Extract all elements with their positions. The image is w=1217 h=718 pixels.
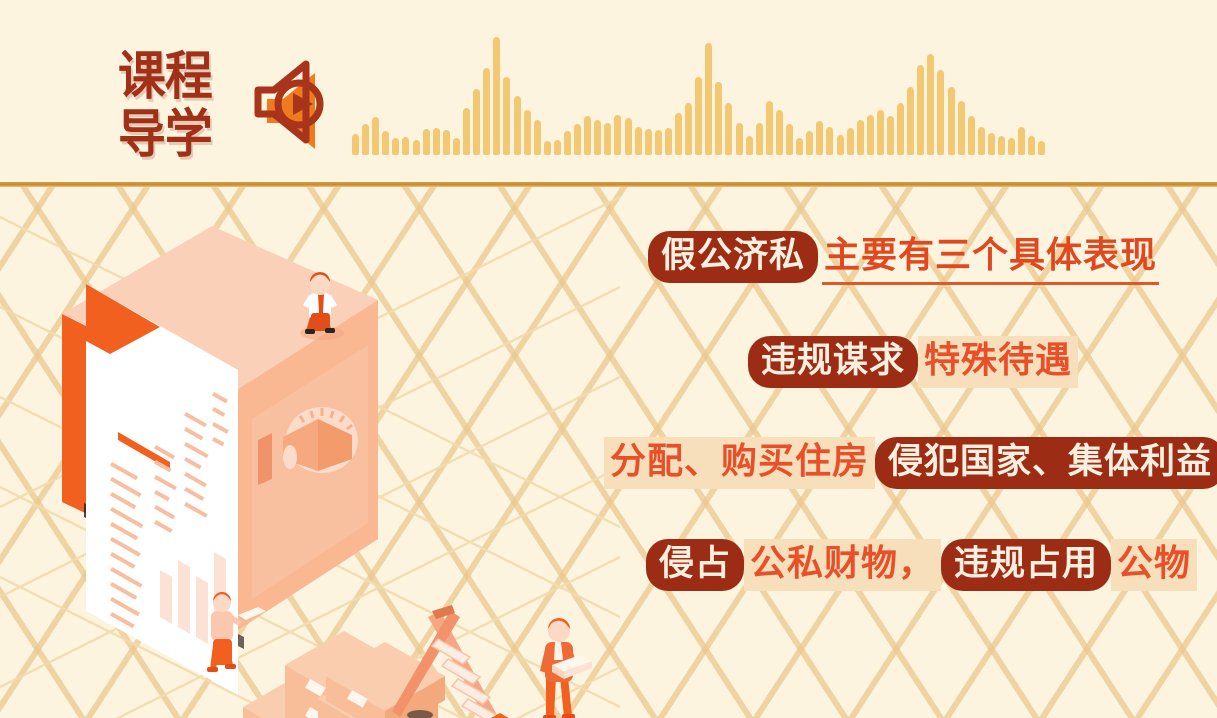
- waveform-bar: [473, 89, 480, 155]
- waveform-bar: [978, 127, 985, 155]
- waveform-bar: [564, 131, 571, 155]
- isometric-safe-vault-illustration: [0, 187, 620, 718]
- statement-3-body: 分配、购买住房: [604, 437, 875, 489]
- waveform-bar: [514, 96, 521, 155]
- waveform-bar: [524, 110, 531, 155]
- waveform-bar: [796, 138, 803, 155]
- waveform-bar: [665, 128, 672, 155]
- waveform-bar: [826, 127, 833, 155]
- waveform-bar: [867, 115, 874, 155]
- waveform-bar: [988, 133, 995, 155]
- waveform-bar: [554, 140, 561, 155]
- statement-line-3: 分配、购买住房 侵犯国家、集体利益: [604, 437, 1217, 489]
- statement-1-keyword: 假公济私: [648, 231, 818, 283]
- waveform-bar: [1028, 136, 1035, 155]
- waveform-bar: [594, 120, 601, 155]
- waveform-bar: [614, 115, 621, 155]
- waveform-bar: [907, 87, 914, 155]
- waveform-bar: [534, 120, 541, 155]
- waveform-bar: [917, 65, 924, 155]
- waveform-bar: [1038, 141, 1045, 155]
- waveform-bar: [423, 129, 430, 155]
- speaker-play-icon[interactable]: [250, 58, 342, 158]
- page-title: 课程 导学: [118, 48, 240, 166]
- statement-4-body-1: 公私财物，: [744, 539, 941, 591]
- waveform-bar: [806, 131, 813, 155]
- waveform-bar: [776, 110, 783, 155]
- waveform-bar: [998, 136, 1005, 155]
- waveform-bar: [1008, 138, 1015, 155]
- waveform-bar: [362, 124, 369, 155]
- statement-1-body: 主要有三个具体表现: [818, 231, 1161, 283]
- waveform-bar: [837, 135, 844, 155]
- waveform-bar: [443, 130, 450, 155]
- audio-waveform: [352, 30, 1142, 155]
- man-with-box: [540, 618, 592, 718]
- waveform-bar: [574, 124, 581, 155]
- waveform-bar: [493, 37, 500, 155]
- statement-line-4: 侵占 公私财物， 违规占用 公物: [646, 539, 1197, 591]
- waveform-bar: [725, 103, 732, 155]
- waveform-bar: [584, 116, 591, 155]
- statement-list: 假公济私 主要有三个具体表现 违规谋求 特殊待遇 分配、购买住房 侵犯国家、集体…: [590, 187, 1217, 718]
- waveform-bar: [897, 103, 904, 155]
- waveform-bar: [705, 43, 712, 155]
- statement-2-body: 特殊待遇: [918, 336, 1078, 388]
- waveform-bar: [877, 110, 884, 155]
- waveform-bar: [675, 113, 682, 155]
- waveform-bar: [816, 121, 823, 155]
- waveform-bar: [413, 140, 420, 155]
- waveform-bar: [746, 136, 753, 155]
- waveform-bar: [736, 123, 743, 155]
- waveform-bar: [948, 87, 955, 155]
- statement-2-keyword: 违规谋求: [748, 336, 918, 388]
- waveform-bar: [937, 70, 944, 155]
- waveform-bar: [544, 141, 551, 155]
- waveform-bar: [1018, 127, 1025, 155]
- waveform-bar: [655, 130, 662, 155]
- statement-4-body-2: 公物: [1111, 539, 1197, 591]
- waveform-bar: [766, 101, 773, 155]
- waveform-bar: [604, 123, 611, 155]
- waveform-bar: [695, 77, 702, 155]
- waveform-bar: [958, 101, 965, 155]
- waveform-bar: [352, 134, 359, 155]
- waveform-bar: [968, 116, 975, 155]
- statement-4-keyword-1: 侵占: [646, 539, 744, 591]
- waveform-bar: [503, 77, 510, 155]
- waveform-bar: [927, 54, 934, 155]
- waveform-bar: [847, 128, 854, 155]
- page-title-line-1: 课程: [118, 48, 230, 106]
- waveform-bar: [463, 108, 470, 155]
- waveform-bar: [715, 82, 722, 155]
- page-title-line-2: 导学: [118, 106, 230, 164]
- waveform-bar: [786, 124, 793, 155]
- waveform-bar: [635, 127, 642, 155]
- waveform-bar: [402, 137, 409, 155]
- statement-line-1: 假公济私 主要有三个具体表现: [648, 231, 1161, 283]
- waveform-bar: [756, 123, 763, 155]
- header-bar: 课程 导学: [0, 0, 1217, 186]
- waveform-bar: [483, 68, 490, 155]
- statement-3-keyword: 侵犯国家、集体利益: [875, 437, 1217, 489]
- waveform-bar: [392, 138, 399, 155]
- waveform-bar: [625, 118, 632, 155]
- waveform-bar: [433, 128, 440, 155]
- waveform-bar: [382, 131, 389, 155]
- statement-4-keyword-2: 违规占用: [941, 539, 1111, 591]
- waveform-bar: [887, 116, 894, 155]
- slide-canvas: 课程 导学: [0, 0, 1217, 718]
- waveform-bar: [453, 138, 460, 155]
- statement-line-2: 违规谋求 特殊待遇: [748, 336, 1078, 388]
- waveform-bar: [857, 120, 864, 155]
- content-area: 假公济私 主要有三个具体表现 违规谋求 特殊待遇 分配、购买住房 侵犯国家、集体…: [0, 187, 1217, 718]
- waveform-bar: [645, 129, 652, 155]
- waveform-bar: [685, 103, 692, 155]
- waveform-bar: [372, 117, 379, 155]
